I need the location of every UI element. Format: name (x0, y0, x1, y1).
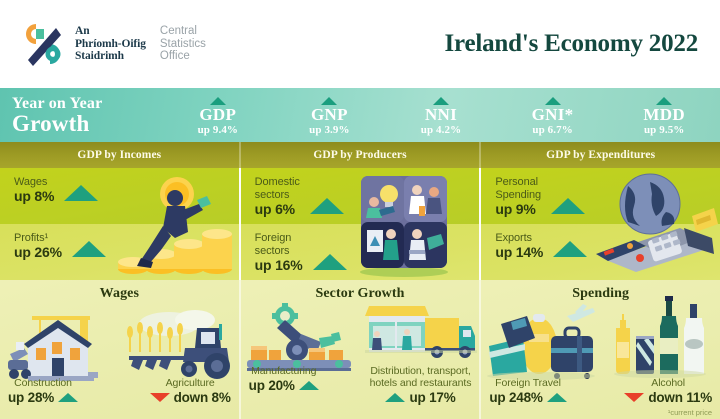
stat-value: up 9% (495, 203, 541, 216)
arrow-up-icon (433, 97, 449, 105)
bottom-item-value: up 20% (249, 378, 295, 393)
bottom-title-wages: Wages (0, 286, 239, 302)
arrow-up-icon (385, 393, 405, 402)
bottom-item-value: down 8% (174, 390, 231, 405)
stat-text: Exports up 14% (495, 232, 543, 259)
page-header: An Phríomh-Oifig Staidrimh Central Stati… (0, 0, 720, 88)
stat-text: Foreign sectors up 16% (255, 232, 303, 272)
stat-value: up 26% (14, 246, 62, 259)
arrow-up-icon (545, 97, 561, 105)
year-on-year-growth-band: Year on Year Growth GDP up 9.4% GNP up 3… (0, 88, 720, 142)
mid-column-incomes: Wages up 8% Profits¹ up 26% (0, 168, 241, 280)
arrow-up-icon (551, 198, 585, 214)
arrow-up-icon (299, 381, 319, 390)
arrow-up-icon (553, 241, 587, 257)
arrow-up-icon (313, 254, 347, 270)
stat-exports: Exports up 14% (495, 232, 587, 259)
bottom-item-label-line2: hotels and restaurants (370, 377, 472, 389)
metric-name: NNI (425, 106, 457, 123)
bottom-column-sector-growth: Sector Growth (241, 280, 482, 419)
bottom-items-spending: Foreign Travel up 248% Alcohol down 11% (481, 377, 720, 405)
stat-label-line1: Foreign (255, 232, 303, 245)
bottom-item-label: Foreign Travel (489, 377, 566, 389)
metric-mdd: MDD up 9.5% (608, 94, 720, 137)
metric-name: GNP (311, 106, 348, 123)
bottom-item-valuerow: down 8% (150, 390, 231, 405)
logo-english-line3: Office (160, 50, 206, 63)
stat-text: Profits¹ up 26% (14, 232, 62, 259)
stat-domestic-sectors: Domestic sectors up 6% (255, 176, 344, 216)
metric-value: up 4.2% (421, 123, 461, 137)
bottles-beer-wine-spirits-icon (612, 294, 708, 380)
metric-value: up 9.5% (644, 123, 684, 137)
stat-value: up 8% (14, 190, 54, 203)
logo-irish-text: An Phríomh-Oifig Staidrimh (75, 25, 146, 63)
cso-infinity-logo-icon (20, 18, 66, 70)
stat-wages: Wages up 8% (14, 176, 98, 203)
metric-name: GNI* (532, 106, 574, 123)
category-header-incomes: GDP by Incomes (0, 142, 241, 168)
arrow-up-icon (547, 393, 567, 402)
bottom-items-sector-growth: Manufacturing up 20% Distribution, trans… (241, 365, 480, 405)
cso-logo: An Phríomh-Oifig Staidrimh Central Stati… (20, 18, 206, 70)
growth-label-line1: Year on Year (12, 95, 162, 112)
metric-name: MDD (643, 106, 685, 123)
bottom-item-distribution: Distribution, transport, hotels and rest… (370, 365, 472, 405)
bottom-item-value: up 28% (8, 390, 54, 405)
metric-gni-star: GNI* up 6.7% (497, 94, 609, 137)
bottom-item-label: Agriculture (150, 377, 231, 389)
four-panel-workers-icon (349, 172, 459, 278)
metric-name: GDP (199, 106, 236, 123)
bottom-item-value: up 248% (489, 390, 542, 405)
growth-label: Year on Year Growth (12, 95, 162, 136)
metric-nni: NNI up 4.2% (385, 94, 497, 137)
arrow-up-icon (64, 185, 98, 201)
bottom-stats-row: Wages (0, 280, 720, 419)
logo-english-line1: Central (160, 25, 206, 38)
bottom-items-wages: Construction up 28% Agriculture down 8% (0, 377, 239, 405)
arrow-up-icon (656, 97, 672, 105)
growth-metrics: GDP up 9.4% GNP up 3.9% NNI up 4.2% GNI*… (162, 88, 720, 142)
luggage-suitcase-plane-icon (483, 298, 601, 380)
globe-card-terminal-icon (588, 168, 718, 276)
footnote: ¹current price (668, 408, 712, 417)
stat-text: Domestic sectors up 6% (255, 176, 300, 216)
metric-value: up 6.7% (532, 123, 572, 137)
metric-gnp: GNP up 3.9% (274, 94, 386, 137)
bottom-item-construction: Construction up 28% (8, 377, 78, 405)
category-header-expenditures: GDP by Expenditures (481, 142, 720, 168)
category-header-producers: GDP by Producers (241, 142, 482, 168)
middle-stats-row: Wages up 8% Profits¹ up 26% (0, 168, 720, 280)
bottom-item-label: Manufacturing (249, 365, 319, 377)
bottom-item-value: down 11% (648, 390, 712, 405)
bottom-item-valuerow: down 11% (624, 390, 712, 405)
bottom-item-valuerow: up 248% (489, 390, 566, 405)
arrow-up-icon (310, 198, 344, 214)
house-crane-construction-icon (6, 302, 114, 388)
bottom-item-value: up 17% (409, 390, 455, 405)
metric-gdp: GDP up 9.4% (162, 94, 274, 137)
bottom-item-agriculture: Agriculture down 8% (150, 377, 231, 405)
category-header-band: GDP by Incomes GDP by Producers GDP by E… (0, 142, 720, 168)
shop-delivery-truck-icon (359, 302, 477, 362)
stat-label-line1: Personal (495, 176, 541, 189)
arrow-down-icon (624, 393, 644, 402)
arrow-up-icon (58, 393, 78, 402)
man-climbing-coin-stacks-icon (105, 170, 235, 280)
bottom-item-manufacturing: Manufacturing up 20% (249, 365, 319, 405)
logo-english-text: Central Statistics Office (160, 25, 206, 63)
bottom-item-alcohol: Alcohol down 11% (624, 377, 712, 405)
infographic-root: An Phríomh-Oifig Staidrimh Central Stati… (0, 0, 720, 419)
logo-english-line2: Statistics (160, 38, 206, 51)
bottom-item-valuerow: up 17% (370, 390, 472, 405)
logo-irish-line3: Staidrimh (75, 50, 146, 63)
tractor-plough-wheat-icon (123, 306, 235, 384)
bottom-title-sector-growth: Sector Growth (241, 286, 480, 302)
logo-irish-line2: Phríomh-Oifig (75, 38, 146, 51)
bottom-item-valuerow: up 28% (8, 390, 78, 405)
growth-label-line2: Growth (12, 112, 162, 136)
bottom-item-valuerow: up 20% (249, 378, 319, 393)
stat-personal-spending: Personal Spending up 9% (495, 176, 585, 216)
stat-label-line1: Domestic (255, 176, 300, 189)
bottom-item-label-line1: Distribution, transport, (370, 365, 472, 377)
arrow-up-icon (72, 241, 106, 257)
arrow-up-icon (210, 97, 226, 105)
bottom-item-label: Alcohol (624, 377, 712, 389)
stat-foreign-sectors: Foreign sectors up 16% (255, 232, 347, 272)
page-title: Ireland's Economy 2022 (445, 30, 699, 58)
bottom-column-wages: Wages (0, 280, 241, 419)
metric-value: up 3.9% (309, 123, 349, 137)
metric-value: up 9.4% (198, 123, 238, 137)
stat-text: Personal Spending up 9% (495, 176, 541, 216)
bottom-item-foreign-travel: Foreign Travel up 248% (489, 377, 566, 405)
stat-value: up 16% (255, 259, 303, 272)
arrow-down-icon (150, 393, 170, 402)
bottom-item-label: Construction (8, 377, 78, 389)
mid-column-expenditures: Personal Spending up 9% Exports up 14% (481, 168, 720, 280)
arrow-up-icon (321, 97, 337, 105)
logo-irish-line1: An (75, 25, 146, 38)
stat-value: up 14% (495, 246, 543, 259)
stat-profits: Profits¹ up 26% (14, 232, 106, 259)
stat-text: Wages up 8% (14, 176, 54, 203)
bottom-column-spending: Spending (481, 280, 720, 419)
mid-column-producers: Domestic sectors up 6% Foreign sectors u… (241, 168, 482, 280)
stat-value: up 6% (255, 203, 300, 216)
